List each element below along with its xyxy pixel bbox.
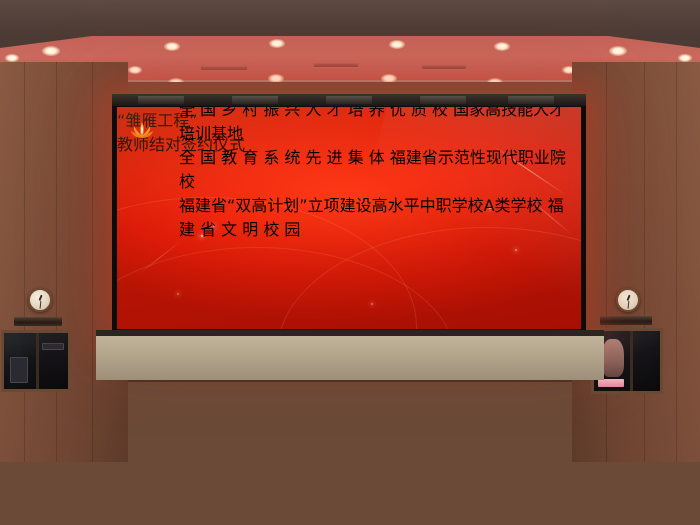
stage-back-wall-band	[96, 336, 604, 380]
ceiling-downlight	[678, 54, 692, 62]
screen-content: 首批国家中等职业教育改革发展示范校 国家级重点中等职业学校 全 国 乡 村 振 …	[117, 107, 581, 329]
wall-clock-left	[28, 288, 52, 312]
booth-equipment	[42, 343, 64, 350]
wall-shelf-left	[14, 317, 62, 326]
audience-seat	[0, 506, 44, 525]
booth-pink-sign	[598, 379, 624, 387]
screen-header-line-3: 全 国 教 育 系 统 先 进 集 体 福建省示范性现代职业院校	[179, 144, 569, 192]
booth-operator	[602, 339, 624, 377]
ceiling-air-vent	[313, 63, 359, 68]
ceiling-downlight	[164, 42, 180, 51]
stage-paper-right	[0, 119, 27, 134]
ceiling-air-vent	[421, 65, 467, 70]
control-booth-left	[1, 330, 71, 392]
ceiling-downlight	[389, 40, 405, 49]
right-wall	[572, 62, 700, 462]
ceiling-downlight	[42, 46, 60, 56]
booth-equipment	[10, 357, 28, 383]
ceiling-downlight	[269, 39, 285, 48]
led-display-screen: 首批国家中等职业教育改革发展示范校 国家级重点中等职业学校 全 国 乡 村 振 …	[112, 94, 586, 340]
wall-clock-right	[616, 288, 640, 312]
lotus-icon	[129, 122, 155, 140]
school-emblem-icon	[129, 122, 173, 166]
ceiling-air-vent	[200, 66, 248, 71]
ceiling-downlight	[494, 42, 510, 51]
wall-shelf-right	[600, 316, 652, 325]
auditorium-scene: 首批国家中等职业教育改革发展示范校 国家级重点中等职业学校 全 国 乡 村 振 …	[0, 0, 700, 525]
screen-header-line-4: 福建省“双高计划”立项建设高水平中职学校A类学校 福 建 省 文 明 校 园	[179, 192, 569, 240]
screen-top-rail	[112, 94, 586, 106]
ceiling-downlight	[128, 66, 142, 74]
audience-seat	[0, 482, 44, 506]
ceiling-downlight	[609, 46, 627, 56]
screen-header-band: 首批国家中等职业教育改革发展示范校 国家级重点中等职业学校 全 国 乡 村 振 …	[129, 114, 569, 174]
screen-header-line-2: 全 国 乡 村 振 兴 人 才 培 养 优 质 校 国家高技能人才培训基地	[179, 107, 569, 144]
ceiling-downlight	[5, 54, 19, 62]
